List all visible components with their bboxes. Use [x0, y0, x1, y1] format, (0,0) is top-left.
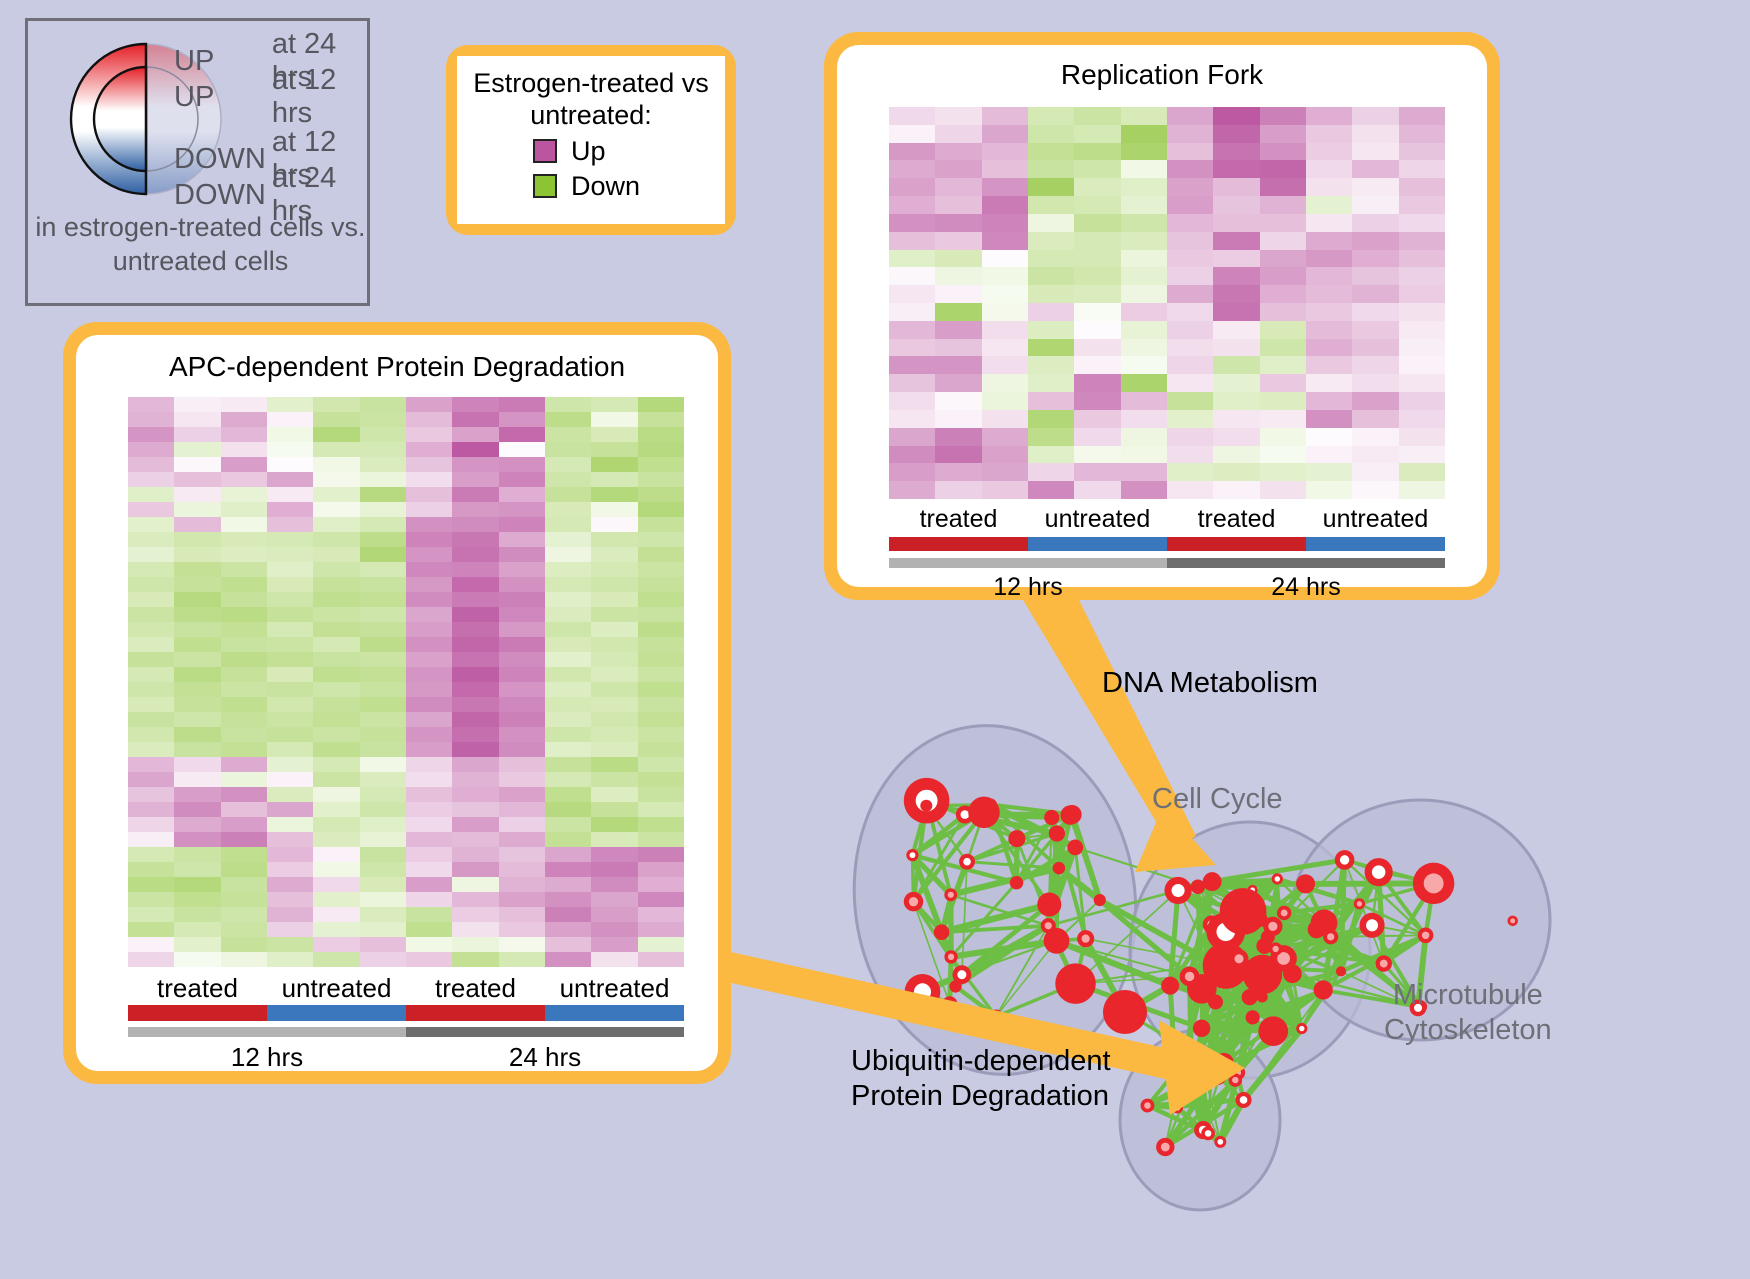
cluster-label-microtubule-cytoskeleton: Microtubule Cytoskeleton: [1384, 978, 1552, 1048]
heatmap-cell: [128, 607, 174, 622]
network-node[interactable]: [1060, 805, 1080, 825]
heatmap-cell: [1352, 107, 1398, 125]
heatmap-cell: [128, 442, 174, 457]
heatmap-cell: [313, 607, 359, 622]
up-color-swatch: [533, 139, 557, 163]
heatmap-cell: [452, 502, 498, 517]
heatmap-cell: [591, 532, 637, 547]
network-node[interactable]: [1283, 964, 1302, 983]
network-node[interactable]: [1191, 880, 1205, 894]
heatmap-cell: [267, 517, 313, 532]
network-node[interactable]: [1044, 810, 1059, 825]
heatmap-cell: [1352, 374, 1398, 392]
heatmap-cell: [313, 397, 359, 412]
heatmap-cell: [499, 607, 545, 622]
heatmap-cell: [499, 892, 545, 907]
heatmap-cell: [1121, 214, 1167, 232]
heatmap-cell: [267, 592, 313, 607]
heatmap-cell: [1399, 392, 1445, 410]
heatmap-cell: [1399, 125, 1445, 143]
heatmap-cell: [499, 487, 545, 502]
heatmap-cell: [935, 356, 981, 374]
heatmap-cell: [1213, 481, 1259, 499]
heatmap-cell: [1074, 339, 1120, 357]
heatmap-cell: [1074, 178, 1120, 196]
sample-group-label: treated: [1167, 505, 1306, 534]
heatmap-cell: [128, 562, 174, 577]
heatmap-cell: [128, 832, 174, 847]
heatmap-cell: [128, 517, 174, 532]
heatmap-cell: [360, 547, 406, 562]
heatmap-cell: [499, 907, 545, 922]
heatmap-cell: [1352, 178, 1398, 196]
heatmap-cell: [545, 787, 591, 802]
heatmap-cell: [1352, 232, 1398, 250]
heatmap-cell: [545, 577, 591, 592]
heatmap-cell: [982, 160, 1028, 178]
heatmap-cell: [360, 397, 406, 412]
heatmap-cell: [267, 727, 313, 742]
heatmap-cell: [1213, 285, 1259, 303]
heatmap-cell: [591, 772, 637, 787]
heatmap-cell: [360, 577, 406, 592]
heatmap-cell: [313, 832, 359, 847]
heatmap-cell: [1306, 250, 1352, 268]
heatmap-cell: [174, 412, 220, 427]
panel-title: APC-dependent Protein Degradation: [76, 351, 718, 383]
heatmap-cell: [267, 937, 313, 952]
heatmap-cell: [638, 442, 684, 457]
heatmap-cell: [591, 802, 637, 817]
network-node-core: [1268, 922, 1277, 931]
heatmap-cell: [128, 802, 174, 817]
heatmap-cell: [313, 442, 359, 457]
heatmap-cell: [267, 892, 313, 907]
network-node[interactable]: [1161, 977, 1179, 995]
heatmap-cell: [1028, 285, 1074, 303]
heatmap-cell: [1028, 214, 1074, 232]
heatmap-cell: [1167, 214, 1213, 232]
heatmap-cell: [1306, 392, 1352, 410]
network-node[interactable]: [934, 924, 950, 940]
heatmap-cell: [499, 802, 545, 817]
heatmap-cell: [545, 742, 591, 757]
network-node[interactable]: [1261, 930, 1275, 944]
heatmap-cell: [221, 742, 267, 757]
network-node[interactable]: [1220, 888, 1267, 935]
heatmap-cell: [982, 446, 1028, 464]
heatmap-cell: [406, 952, 452, 967]
heatmap-cell: [1306, 107, 1352, 125]
heatmap-cell: [1121, 107, 1167, 125]
heatmap-cell: [889, 232, 935, 250]
heatmap-cell: [452, 832, 498, 847]
time-group-label: 24 hrs: [406, 1042, 684, 1073]
heatmap-cell: [982, 321, 1028, 339]
expression-colorbar-legend: UP at 24 hrs UP at 12 hrs DOWN at 12 hrs…: [25, 18, 370, 306]
heatmap-cell: [1399, 303, 1445, 321]
heatmap-cell: [591, 667, 637, 682]
heatmap-cell: [313, 412, 359, 427]
heatmap-cell: [221, 877, 267, 892]
heatmap-cell: [1028, 339, 1074, 357]
heatmap-cell: [889, 339, 935, 357]
heatmap-cell: [889, 196, 935, 214]
heatmap-cell: [1074, 107, 1120, 125]
time-group-label: 24 hrs: [1167, 573, 1445, 602]
heatmap-cell: [406, 877, 452, 892]
heatmap-cell: [174, 667, 220, 682]
heatmap-cell: [174, 607, 220, 622]
heatmap-cell: [545, 472, 591, 487]
heatmap-cell: [935, 374, 981, 392]
network-node[interactable]: [1053, 862, 1066, 875]
heatmap-cell: [1352, 143, 1398, 161]
heatmap-cell: [499, 832, 545, 847]
heatmap-cell: [1028, 196, 1074, 214]
network-node[interactable]: [1314, 980, 1333, 999]
heatmap-cell: [360, 937, 406, 952]
network-node[interactable]: [1094, 894, 1106, 906]
network-node[interactable]: [1055, 963, 1096, 1004]
heatmap-cell: [1260, 410, 1306, 428]
heatmap-cell: [1306, 446, 1352, 464]
heatmap-cell: [1213, 374, 1259, 392]
heatmap-cell: [221, 667, 267, 682]
heatmap-cell: [1167, 107, 1213, 125]
network-node-core: [1197, 1053, 1206, 1062]
heatmap-cell: [221, 442, 267, 457]
heatmap-cell: [452, 427, 498, 442]
network-node-core: [1213, 1072, 1222, 1081]
heatmap-cell: [313, 862, 359, 877]
network-node[interactable]: [968, 797, 999, 828]
heatmap-cell: [935, 178, 981, 196]
heatmap-cell: [452, 922, 498, 937]
heatmap-cell: [638, 937, 684, 952]
heatmap-cell: [221, 847, 267, 862]
heatmap-cell: [267, 637, 313, 652]
heatmap-cell: [591, 397, 637, 412]
heatmap-cell: [1399, 267, 1445, 285]
network-node-core: [1045, 922, 1052, 929]
network-node[interactable]: [1044, 928, 1070, 954]
heatmap-cell: [406, 487, 452, 502]
heatmap-cell: [174, 907, 220, 922]
heatmap-cell: [406, 847, 452, 862]
heatmap-cell: [174, 892, 220, 907]
network-node[interactable]: [1208, 995, 1223, 1010]
heatmap-cell: [221, 487, 267, 502]
heatmap-cell: [267, 757, 313, 772]
heatmap-cell: [638, 697, 684, 712]
network-node[interactable]: [1243, 955, 1283, 995]
network-node[interactable]: [1203, 872, 1222, 891]
heatmap-cell: [638, 952, 684, 967]
heatmap-cell: [1399, 178, 1445, 196]
heatmap-cell: [889, 374, 935, 392]
heatmap-cell: [267, 817, 313, 832]
heatmap-cell: [452, 772, 498, 787]
heatmap-cell: [1167, 160, 1213, 178]
heatmap-cell: [128, 772, 174, 787]
time-group-colorbar: [889, 558, 1445, 568]
heatmap-cell: [638, 712, 684, 727]
heatmap-cell: [406, 832, 452, 847]
network-node-core: [1510, 918, 1515, 923]
cluster-label-dna-metabolism: DNA Metabolism: [1102, 666, 1318, 701]
heatmap-cell: [128, 412, 174, 427]
heatmap-cell: [1260, 285, 1306, 303]
heatmap-cell: [638, 607, 684, 622]
estrogen-legend-title: Estrogen-treated vs untreated:: [465, 68, 717, 132]
heatmap-cell: [313, 892, 359, 907]
heatmap-cell: [221, 577, 267, 592]
heatmap-cell: [499, 712, 545, 727]
heatmap-cell: [406, 802, 452, 817]
heatmap-cell: [1074, 446, 1120, 464]
heatmap-cell: [1306, 374, 1352, 392]
heatmap-cell: [591, 727, 637, 742]
replication-fork-panel: Replication Fork treateduntreatedtreated…: [824, 32, 1500, 600]
heatmap-cell: [174, 457, 220, 472]
heatmap-cell: [221, 532, 267, 547]
heatmap-cell: [267, 502, 313, 517]
heatmap-grid: [128, 397, 684, 967]
heatmap-cell: [267, 877, 313, 892]
heatmap-cell: [221, 592, 267, 607]
network-node[interactable]: [1049, 825, 1065, 841]
heatmap-cell: [889, 356, 935, 374]
colorbar-row-key: UP: [174, 81, 272, 114]
heatmap-cell: [1260, 125, 1306, 143]
heatmap-cell: [360, 772, 406, 787]
heatmap-cell: [360, 457, 406, 472]
heatmap-cell: [638, 787, 684, 802]
heatmap-cell: [174, 712, 220, 727]
network-node[interactable]: [1008, 830, 1025, 847]
heatmap-cell: [545, 922, 591, 937]
heatmap-cell: [1121, 143, 1167, 161]
heatmap-cell: [1074, 285, 1120, 303]
heatmap-cell: [545, 502, 591, 517]
heatmap-cell: [452, 622, 498, 637]
heatmap-cell: [221, 502, 267, 517]
heatmap-cell: [1399, 339, 1445, 357]
network-node[interactable]: [942, 996, 957, 1011]
heatmap-cell: [638, 742, 684, 757]
network-node[interactable]: [1257, 991, 1268, 1002]
heatmap-cell: [221, 892, 267, 907]
heatmap-cell: [128, 877, 174, 892]
heatmap-cell: [982, 143, 1028, 161]
heatmap-cell: [545, 877, 591, 892]
heatmap-cell: [1213, 392, 1259, 410]
heatmap-cell: [221, 862, 267, 877]
network-node[interactable]: [1242, 989, 1258, 1005]
heatmap-cell: [1306, 356, 1352, 374]
heatmap-cell: [452, 397, 498, 412]
network-node[interactable]: [1193, 1020, 1210, 1037]
heatmap-cell: [174, 832, 220, 847]
heatmap-cell: [499, 652, 545, 667]
heatmap-cell: [452, 682, 498, 697]
network-node[interactable]: [1067, 840, 1083, 856]
heatmap-cell: [360, 562, 406, 577]
network-node[interactable]: [1336, 966, 1346, 976]
sample-group-label: treated: [889, 505, 1028, 534]
heatmap-cell: [638, 592, 684, 607]
heatmap-cell: [221, 922, 267, 937]
heatmap-cell: [545, 847, 591, 862]
heatmap-cell: [360, 532, 406, 547]
heatmap-cell: [1352, 339, 1398, 357]
heatmap-cell: [1306, 143, 1352, 161]
network-node[interactable]: [1246, 1010, 1260, 1024]
heatmap-cell: [1399, 107, 1445, 125]
heatmap-cell: [221, 607, 267, 622]
heatmap-cell: [499, 502, 545, 517]
heatmap-cell: [1121, 250, 1167, 268]
heatmap-cell: [545, 817, 591, 832]
heatmap-cell: [313, 427, 359, 442]
heatmap-cell: [499, 592, 545, 607]
heatmap-cell: [174, 592, 220, 607]
network-node[interactable]: [1296, 874, 1315, 893]
heatmap-cell: [452, 877, 498, 892]
heatmap-cell: [128, 637, 174, 652]
time-group-color-segment: [1167, 558, 1445, 568]
heatmap-cell: [499, 562, 545, 577]
heatmap-cell: [128, 487, 174, 502]
heatmap-cell: [935, 463, 981, 481]
heatmap-cell: [406, 772, 452, 787]
heatmap-cell: [174, 697, 220, 712]
heatmap-cell: [313, 622, 359, 637]
heatmap-cell: [1121, 392, 1167, 410]
heatmap-cell: [452, 892, 498, 907]
heatmap-cell: [499, 457, 545, 472]
heatmap-cell: [174, 517, 220, 532]
heatmap-cell: [360, 427, 406, 442]
sample-group-label: untreated: [1028, 505, 1167, 534]
heatmap-cell: [591, 652, 637, 667]
heatmap-cell: [1167, 339, 1213, 357]
heatmap-cell: [406, 622, 452, 637]
heatmap-cell: [1352, 160, 1398, 178]
heatmap-cell: [360, 682, 406, 697]
heatmap-cell: [1352, 214, 1398, 232]
heatmap-cell: [1213, 410, 1259, 428]
heatmap-cell: [1306, 410, 1352, 428]
heatmap-cell: [313, 472, 359, 487]
network-node[interactable]: [1308, 921, 1326, 939]
heatmap-cell: [1028, 160, 1074, 178]
legend-item-up: Up: [465, 136, 717, 167]
network-node-core: [957, 970, 966, 979]
heatmap-cell: [1028, 321, 1074, 339]
heatmap-cell: [982, 410, 1028, 428]
heatmap-cell: [313, 532, 359, 547]
network-node-core: [1240, 1096, 1248, 1104]
network-node[interactable]: [920, 800, 932, 812]
heatmap-cell: [1260, 428, 1306, 446]
heatmap-cell: [406, 742, 452, 757]
heatmap-cell: [1213, 428, 1259, 446]
network-node-core: [909, 897, 918, 906]
heatmap-cell: [221, 712, 267, 727]
heatmap-cell: [499, 757, 545, 772]
heatmap-cell: [174, 562, 220, 577]
network-node-core: [948, 892, 954, 898]
heatmap-cell: [406, 892, 452, 907]
network-node-core: [948, 954, 954, 960]
heatmap-cell: [267, 607, 313, 622]
heatmap-cell: [221, 817, 267, 832]
sample-group-color-segment: [128, 1005, 267, 1021]
heatmap-cell: [982, 214, 1028, 232]
heatmap-cell: [1167, 481, 1213, 499]
heatmap-cell: [591, 517, 637, 532]
heatmap-cell: [1260, 160, 1306, 178]
sample-group-labels: treateduntreatedtreateduntreated: [128, 973, 684, 1004]
heatmap-cell: [360, 727, 406, 742]
heatmap-cell: [638, 637, 684, 652]
heatmap-cell: [1028, 392, 1074, 410]
heatmap-cell: [128, 742, 174, 757]
heatmap-cell: [1399, 463, 1445, 481]
heatmap-cell: [128, 427, 174, 442]
heatmap-cell: [1306, 267, 1352, 285]
heatmap-cell: [128, 577, 174, 592]
heatmap-cell: [935, 107, 981, 125]
heatmap-cell: [267, 847, 313, 862]
sample-group-label: treated: [406, 973, 545, 1004]
heatmap-cell: [1399, 321, 1445, 339]
heatmap-cell: [452, 952, 498, 967]
network-node[interactable]: [1010, 876, 1023, 889]
network-node-core: [1181, 1058, 1187, 1064]
heatmap-cell: [360, 487, 406, 502]
heatmap-cell: [267, 832, 313, 847]
heatmap-cell: [1399, 356, 1445, 374]
heatmap-cell: [313, 547, 359, 562]
heatmap-cell: [545, 592, 591, 607]
heatmap-cell: [1260, 356, 1306, 374]
network-node[interactable]: [1037, 892, 1061, 916]
heatmap-cell: [452, 697, 498, 712]
network-node-core: [1275, 876, 1280, 881]
sample-group-label: untreated: [545, 973, 684, 1004]
heatmap-cell: [935, 267, 981, 285]
heatmap-cell: [406, 712, 452, 727]
heatmap-cell: [935, 143, 981, 161]
heatmap-cell: [406, 547, 452, 562]
heatmap-cell: [267, 652, 313, 667]
heatmap-cell: [591, 817, 637, 832]
heatmap-cell: [638, 517, 684, 532]
network-node[interactable]: [1103, 990, 1147, 1034]
heatmap-cell: [221, 622, 267, 637]
heatmap-cell: [591, 697, 637, 712]
heatmap-cell: [1167, 232, 1213, 250]
heatmap-cell: [499, 472, 545, 487]
heatmap-cell: [128, 472, 174, 487]
heatmap-cell: [1213, 267, 1259, 285]
network-node[interactable]: [1258, 1016, 1288, 1046]
heatmap-cell: [1306, 178, 1352, 196]
heatmap-cell: [174, 577, 220, 592]
